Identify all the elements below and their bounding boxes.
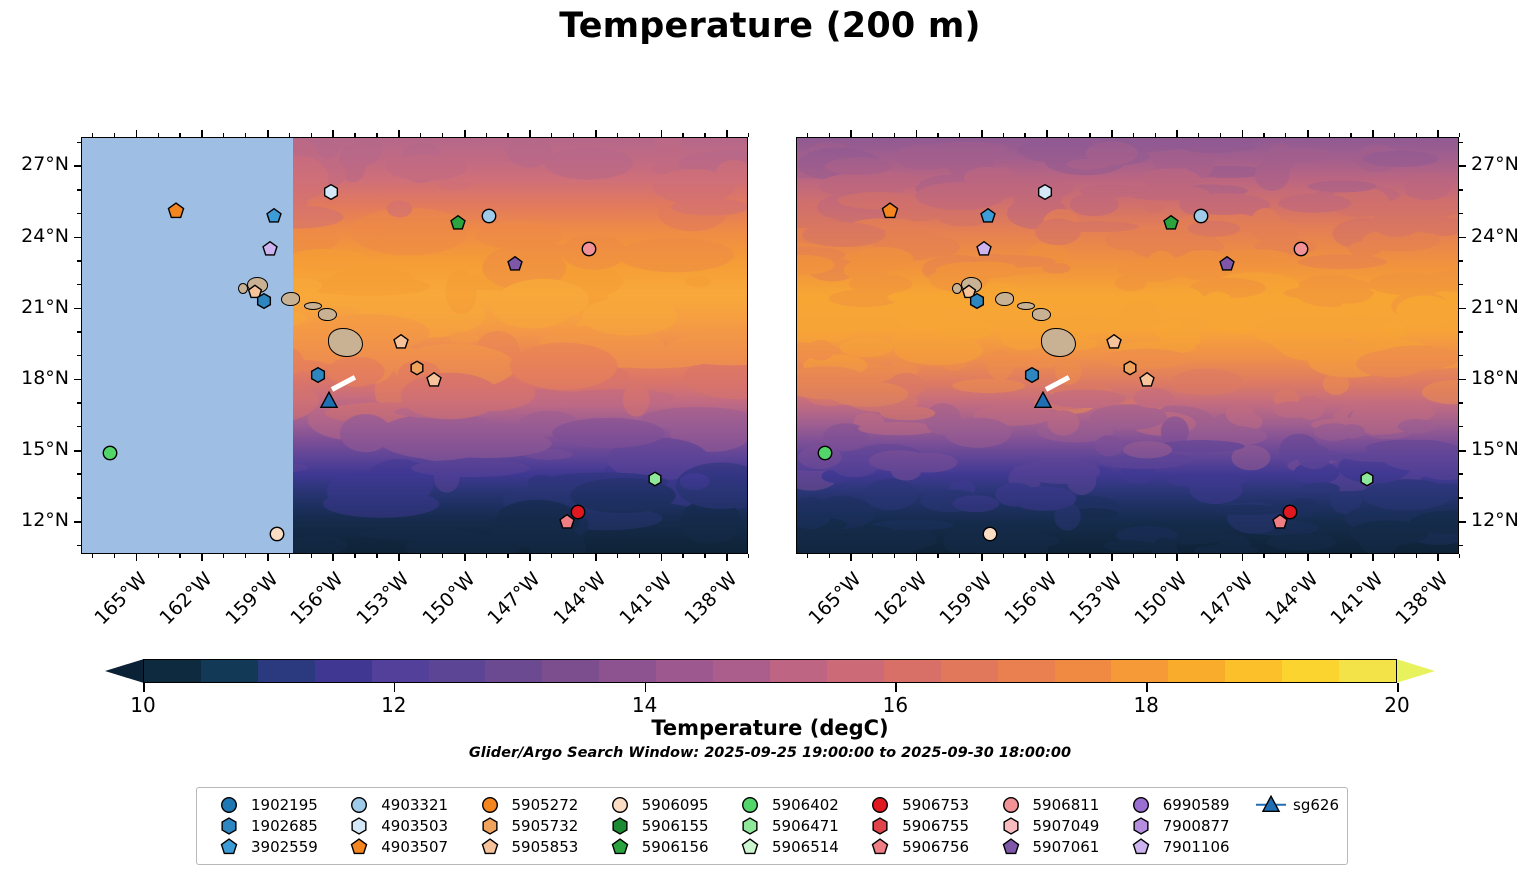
colorbar-segment-9: [656, 660, 713, 682]
x-tick-minor: [682, 554, 683, 558]
x-tick-minor: [682, 133, 683, 137]
map-marker-sg626[interactable]: [316, 388, 342, 414]
x-tick-minor: [92, 133, 93, 137]
x-tick-minor: [894, 554, 895, 558]
legend-symbol-circle-icon: [605, 795, 635, 814]
x-tick-major-top: [1046, 130, 1048, 137]
x-tick-minor: [617, 554, 618, 558]
x-tick-minor: [1459, 554, 1460, 558]
x-tick-minor: [420, 554, 421, 558]
x-tick-minor: [311, 554, 312, 558]
x-tick-major: [850, 554, 852, 561]
x-axis-label: 138°W: [671, 568, 742, 639]
y-tick-major: [1459, 379, 1466, 381]
x-tick-major-top: [916, 130, 918, 137]
x-tick-major: [1176, 554, 1178, 561]
colorbar-tick-label: 18: [1133, 693, 1158, 717]
x-tick-major-top: [726, 130, 728, 137]
x-tick-minor: [179, 554, 180, 558]
y-axis-label: 18°N: [0, 367, 69, 389]
x-axis-label: 138°W: [1382, 568, 1453, 639]
y-tick-minor: [77, 331, 81, 332]
x-tick-minor: [1329, 554, 1330, 558]
x-tick-minor: [1285, 554, 1286, 558]
y-tick-major: [1459, 237, 1466, 239]
y-axis-label: 15°N: [1471, 438, 1519, 460]
colorbar-tick-label: 20: [1384, 693, 1409, 717]
x-tick-minor: [617, 133, 618, 137]
map-marker-5906471[interactable]: [1356, 468, 1378, 490]
legend-symbol-circle-icon: [1126, 795, 1156, 814]
colorbar-tick: [1146, 683, 1148, 692]
colorbar-tick-label: 16: [883, 693, 908, 717]
legend-label: 5906755: [902, 817, 969, 835]
x-tick-minor: [114, 133, 115, 137]
x-tick-major-top: [661, 130, 663, 137]
y-tick-major: [74, 165, 81, 167]
x-tick-minor: [1416, 554, 1417, 558]
x-tick-major-top: [981, 130, 983, 137]
x-tick-minor: [1133, 133, 1134, 137]
colorbar-segment-20: [1282, 660, 1339, 682]
x-tick-major: [595, 554, 597, 561]
legend-label: 1902195: [251, 796, 318, 814]
x-tick-major: [267, 554, 269, 561]
x-tick-minor: [486, 133, 487, 137]
x-tick-minor: [1198, 133, 1199, 137]
x-tick-minor: [959, 554, 960, 558]
x-axis-label: 159°W: [212, 568, 283, 639]
colorbar-segment-0: [144, 660, 201, 682]
x-tick-minor: [354, 133, 355, 137]
x-tick-minor: [1133, 554, 1134, 558]
y-tick-minor: [1459, 142, 1463, 143]
y-tick-major: [1459, 450, 1466, 452]
legend-label: 5906155: [642, 817, 709, 835]
colorbar-segment-10: [713, 660, 770, 682]
x-tick-minor: [1416, 133, 1417, 137]
legend-symbol-circle-icon: [214, 795, 244, 814]
x-tick-major-top: [1437, 130, 1439, 137]
legend-label: sg626: [1293, 796, 1339, 814]
x-tick-minor: [1459, 133, 1460, 137]
legend-item-5905853[interactable]: 5905853: [466, 836, 596, 857]
colorbar-segment-13: [884, 660, 941, 682]
map-marker-5905853c[interactable]: [1135, 368, 1159, 392]
map-marker-5906156[interactable]: [1159, 211, 1183, 235]
x-tick-minor: [179, 133, 180, 137]
x-axis-label: 153°W: [1056, 568, 1127, 639]
y-tick-minor: [1459, 426, 1463, 427]
x-tick-minor: [937, 554, 938, 558]
y-tick-minor: [77, 260, 81, 261]
map-marker-1902195[interactable]: [306, 363, 330, 387]
y-tick-minor: [1459, 473, 1463, 474]
legend-label: 5906402: [772, 796, 839, 814]
map-marker-5905853b[interactable]: [1102, 330, 1126, 354]
x-tick-minor: [1024, 133, 1025, 137]
legend-symbol-circle-icon: [735, 795, 765, 814]
map-marker-5906402[interactable]: [813, 441, 837, 465]
x-tick-minor: [442, 133, 443, 137]
x-axis-label: 141°W: [1317, 568, 1388, 639]
x-axis-label: 156°W: [991, 568, 1062, 639]
map-marker-5906756[interactable]: [555, 510, 579, 534]
y-tick-major: [1459, 521, 1466, 523]
x-tick-minor: [223, 133, 224, 137]
x-tick-major-top: [1176, 130, 1178, 137]
legend-symbol-circle-icon: [996, 795, 1026, 814]
map-marker-1902685[interactable]: [965, 289, 989, 313]
x-axis-label: 144°W: [1252, 568, 1323, 639]
colorbar-segment-6: [485, 660, 542, 682]
colorbar-tick: [143, 683, 145, 692]
y-tick-minor: [77, 426, 81, 427]
legend-label: 5906471: [772, 817, 839, 835]
x-tick-minor: [1285, 133, 1286, 137]
colorbar-segment-7: [542, 660, 599, 682]
x-tick-minor: [1350, 133, 1351, 137]
x-tick-minor: [1329, 133, 1330, 137]
y-tick-minor: [1459, 213, 1463, 214]
legend-symbol-pentagon-icon: [996, 837, 1026, 856]
figure-title: Temperature (200 m): [0, 6, 1540, 46]
y-tick-minor: [77, 189, 81, 190]
x-tick-major: [464, 554, 466, 561]
y-tick-minor: [1459, 402, 1463, 403]
x-axis-label: 156°W: [277, 568, 348, 639]
x-tick-major-top: [529, 130, 531, 137]
colorbar-segment-3: [315, 660, 372, 682]
map-marker-3902559[interactable]: [262, 204, 286, 228]
y-axis-label: 18°N: [1471, 367, 1519, 389]
y-tick-major: [74, 521, 81, 523]
y-tick-minor: [1459, 284, 1463, 285]
x-tick-minor: [507, 133, 508, 137]
legend-item-3902559[interactable]: 3902559: [205, 836, 335, 857]
map-marker-5905853b[interactable]: [389, 330, 413, 354]
legend-symbol-hexagon-icon: [735, 816, 765, 835]
y-axis-label: 27°N: [0, 153, 69, 175]
x-tick-minor: [829, 133, 830, 137]
y-axis-label: 21°N: [1471, 296, 1519, 318]
legend-symbol-pentagon-icon: [214, 837, 244, 856]
y-tick-minor: [1459, 545, 1463, 546]
x-tick-minor: [245, 133, 246, 137]
map-marker-4903507[interactable]: [163, 198, 189, 224]
legend-grid: 1902195190268539025594903321490350349035…: [205, 794, 1339, 857]
x-tick-minor: [704, 133, 705, 137]
map-marker-3902559[interactable]: [976, 204, 1000, 228]
x-tick-minor: [748, 133, 749, 137]
x-tick-major: [1111, 554, 1113, 561]
legend-item-5907061[interactable]: 5907061: [987, 836, 1117, 857]
map-marker-5905853c[interactable]: [422, 368, 446, 392]
legend-item-sg626[interactable]: sg626: [1247, 794, 1339, 815]
x-tick-major-top: [1307, 130, 1309, 137]
x-tick-minor: [1394, 133, 1395, 137]
legend-label: 4903503: [381, 817, 448, 835]
map-marker-sg626[interactable]: [1030, 388, 1056, 414]
y-tick-minor: [77, 545, 81, 546]
y-tick-minor: [1459, 189, 1463, 190]
map-marker-5907061[interactable]: [503, 252, 527, 276]
y-axis-label: 27°N: [1471, 153, 1519, 175]
x-tick-minor: [1155, 133, 1156, 137]
legend-label: 4903321: [381, 796, 448, 814]
legend-symbol-hexagon-icon: [475, 816, 505, 835]
x-tick-major: [661, 554, 663, 561]
legend-label: 5906514: [772, 838, 839, 856]
y-tick-minor: [77, 497, 81, 498]
y-tick-minor: [1459, 260, 1463, 261]
legend-symbol-pentagon-icon: [344, 837, 374, 856]
x-tick-minor: [872, 133, 873, 137]
y-tick-minor: [1459, 497, 1463, 498]
x-tick-minor: [1155, 554, 1156, 558]
x-tick-minor: [289, 133, 290, 137]
legend-symbol-pentagon-icon: [1126, 837, 1156, 856]
colorbar-tick: [1397, 683, 1399, 692]
legend-label: 5906753: [902, 796, 969, 814]
x-tick-major-top: [850, 130, 852, 137]
legend-symbol-circle-icon: [344, 795, 374, 814]
y-tick-major: [74, 379, 81, 381]
x-tick-minor: [551, 133, 552, 137]
colorbar-under-cap: [105, 659, 144, 683]
map-marker-5906811[interactable]: [1289, 237, 1313, 261]
x-tick-major: [916, 554, 918, 561]
legend-label: 5907049: [1033, 817, 1100, 835]
x-tick-minor: [937, 133, 938, 137]
legend-symbol-pentagon-icon: [475, 837, 505, 856]
legend-symbol-pentagon-icon: [605, 837, 635, 856]
x-tick-minor: [158, 133, 159, 137]
map-marker-4903503[interactable]: [1033, 180, 1057, 204]
x-tick-major: [136, 554, 138, 561]
x-axis-label: 144°W: [540, 568, 611, 639]
y-tick-minor: [77, 213, 81, 214]
x-tick-minor: [311, 133, 312, 137]
colorbar-tick-label: 10: [130, 693, 155, 717]
x-tick-major: [1242, 554, 1244, 561]
x-tick-minor: [376, 554, 377, 558]
x-tick-major-top: [136, 130, 138, 137]
legend-symbol-circle-icon: [475, 795, 505, 814]
colorbar-segment-19: [1225, 660, 1282, 682]
legend-symbol-hexagon-icon: [605, 816, 635, 835]
x-tick-major-top: [398, 130, 400, 137]
x-tick-major: [332, 554, 334, 561]
map-canvas-rtofs: [82, 138, 747, 553]
legend-symbol-pentagon-icon: [865, 837, 895, 856]
legend-symbol-circle-icon: [865, 795, 895, 814]
x-tick-minor: [486, 554, 487, 558]
x-tick-minor: [1089, 133, 1090, 137]
map-marker-5906402[interactable]: [98, 441, 122, 465]
legend-label: 7901106: [1163, 838, 1230, 856]
x-axis-label: 159°W: [926, 568, 997, 639]
colorbar-tick: [645, 683, 647, 692]
x-tick-minor: [420, 133, 421, 137]
x-tick-major: [1437, 554, 1439, 561]
x-tick-minor: [223, 554, 224, 558]
x-axis-label: 162°W: [860, 568, 931, 639]
map-marker-4903321[interactable]: [1189, 204, 1213, 228]
map-marker-5906156[interactable]: [446, 211, 470, 235]
map-marker-5906095[interactable]: [978, 522, 1002, 546]
x-tick-minor: [1003, 133, 1004, 137]
x-tick-minor: [1003, 554, 1004, 558]
legend-symbol-hexagon-icon: [1126, 816, 1156, 835]
x-tick-major-top: [332, 130, 334, 137]
map-marker-4903503[interactable]: [319, 180, 343, 204]
x-tick-major-top: [464, 130, 466, 137]
legend-item-5906756[interactable]: 5906756: [856, 836, 986, 857]
y-tick-minor: [77, 355, 81, 356]
legend-label: 5906811: [1033, 796, 1100, 814]
map-panel-espc[interactable]: ESPC - 2025-09-30 18:00:00: [796, 137, 1459, 554]
x-axis-label: 141°W: [605, 568, 676, 639]
colorbar-segment-18: [1168, 660, 1225, 682]
y-tick-major: [1459, 308, 1466, 310]
x-tick-minor: [639, 554, 640, 558]
legend-label: 6990589: [1163, 796, 1230, 814]
x-tick-major: [529, 554, 531, 561]
x-tick-minor: [573, 133, 574, 137]
x-tick-major-top: [201, 130, 203, 137]
platform-legend: 1902195190268539025594903321490350349035…: [196, 787, 1348, 865]
x-tick-major-top: [1111, 130, 1113, 137]
island-maui: [318, 308, 337, 321]
map-canvas-espc: [797, 138, 1458, 553]
y-axis-label: 21°N: [0, 296, 69, 318]
map-marker-5907061[interactable]: [1215, 252, 1239, 276]
legend-item-5906514[interactable]: 5906514: [726, 836, 856, 857]
x-tick-minor: [507, 554, 508, 558]
y-tick-minor: [77, 142, 81, 143]
y-axis-label: 12°N: [0, 509, 69, 531]
legend-symbol-hexagon-icon: [344, 816, 374, 835]
legend-item-5906156[interactable]: 5906156: [596, 836, 726, 857]
x-tick-minor: [245, 554, 246, 558]
y-tick-minor: [77, 284, 81, 285]
colorbar-segment-1: [201, 660, 258, 682]
colorbar-gradient: [143, 659, 1397, 683]
legend-item-4903507[interactable]: 4903507: [335, 836, 465, 857]
legend-label: 1902685: [251, 817, 318, 835]
figure-root: Temperature (200 m) RTOFS - 2025-09-30 1…: [0, 0, 1540, 889]
legend-symbol-triangle-icon: [1256, 795, 1286, 814]
x-tick-minor: [1394, 554, 1395, 558]
x-tick-minor: [748, 554, 749, 558]
map-panel-rtofs[interactable]: RTOFS - 2025-09-30 18:00:00: [81, 137, 748, 554]
x-tick-major: [726, 554, 728, 561]
legend-label: 5906095: [642, 796, 709, 814]
x-tick-minor: [289, 554, 290, 558]
x-tick-minor: [92, 554, 93, 558]
x-tick-minor: [807, 133, 808, 137]
legend-label: 3902559: [251, 838, 318, 856]
x-axis-label: 147°W: [1186, 568, 1257, 639]
map-marker-5906811[interactable]: [577, 237, 601, 261]
y-axis-label: 12°N: [1471, 509, 1519, 531]
x-tick-minor: [158, 554, 159, 558]
x-tick-minor: [1068, 554, 1069, 558]
y-tick-minor: [77, 402, 81, 403]
map-marker-5906756[interactable]: [1268, 510, 1292, 534]
map-marker-5906095[interactable]: [265, 522, 289, 546]
x-tick-major: [981, 554, 983, 561]
colorbar-segment-5: [429, 660, 486, 682]
x-axis-label: 162°W: [146, 568, 217, 639]
colorbar-segment-8: [599, 660, 656, 682]
legend-item-7901106[interactable]: 7901106: [1117, 836, 1247, 857]
x-tick-minor: [114, 554, 115, 558]
colorbar-segment-11: [770, 660, 827, 682]
y-axis-label: 24°N: [1471, 225, 1519, 247]
y-axis-label: 24°N: [0, 225, 69, 247]
legend-symbol-pentagon-icon: [735, 837, 765, 856]
legend-label: 5906756: [902, 838, 969, 856]
legend-label: 5905732: [512, 817, 579, 835]
x-tick-minor: [376, 133, 377, 137]
map-marker-7901106[interactable]: [972, 237, 996, 261]
x-tick-major-top: [267, 130, 269, 137]
x-axis-label: 147°W: [474, 568, 545, 639]
x-tick-minor: [1089, 554, 1090, 558]
x-axis-label: 165°W: [795, 568, 866, 639]
legend-label: 5905272: [512, 796, 579, 814]
colorbar-over-cap: [1396, 659, 1435, 683]
map-marker-1902195[interactable]: [1020, 363, 1044, 387]
x-tick-major: [201, 554, 203, 561]
x-tick-major-top: [595, 130, 597, 137]
map-marker-4903321[interactable]: [477, 204, 501, 228]
x-tick-major: [1046, 554, 1048, 561]
x-tick-minor: [1024, 554, 1025, 558]
map-marker-4903507[interactable]: [877, 198, 903, 224]
legend-label: 5906156: [642, 838, 709, 856]
colorbar-segment-12: [827, 660, 884, 682]
colorbar-segment-15: [998, 660, 1055, 682]
island-oahu: [281, 292, 300, 306]
y-tick-major: [1459, 165, 1466, 167]
map-marker-5906471[interactable]: [644, 468, 666, 490]
x-tick-minor: [1220, 554, 1221, 558]
x-tick-minor: [639, 133, 640, 137]
y-axis-label: 15°N: [0, 438, 69, 460]
colorbar-tick-label: 12: [381, 693, 406, 717]
colorbar-axis-label: Temperature (degC): [0, 716, 1540, 740]
x-axis-label: 153°W: [343, 568, 414, 639]
map-marker-1902685[interactable]: [252, 289, 276, 313]
map-marker-7901106[interactable]: [258, 237, 282, 261]
legend-symbol-hexagon-icon: [214, 816, 244, 835]
island-molokai: [304, 302, 322, 310]
x-tick-minor: [1350, 554, 1351, 558]
x-tick-minor: [872, 554, 873, 558]
y-tick-major: [74, 237, 81, 239]
x-tick-minor: [1068, 133, 1069, 137]
x-tick-minor: [354, 554, 355, 558]
y-tick-minor: [77, 473, 81, 474]
colorbar-segment-21: [1339, 660, 1396, 682]
island-hawaii: [328, 328, 363, 357]
legend-symbol-hexagon-icon: [865, 816, 895, 835]
x-tick-minor: [807, 554, 808, 558]
legend-label: 4903507: [381, 838, 448, 856]
